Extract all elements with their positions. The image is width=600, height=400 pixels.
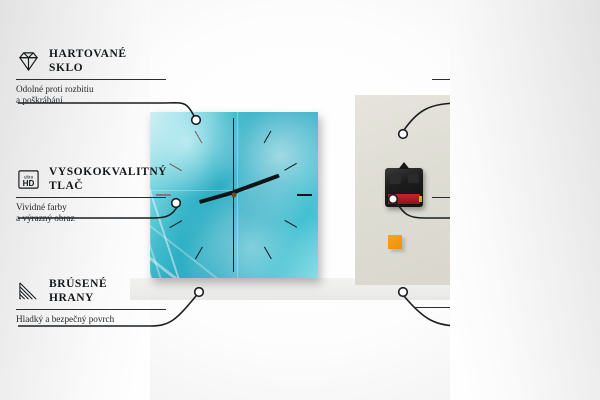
feature-divider [432, 197, 592, 198]
product-photo [130, 90, 470, 300]
ultra-hd-badge-icon: ultra HD [16, 168, 41, 191]
feature-penove-podlozky: PENOVÝ DISTAN- ČNÍ PODLOŽKY Umožňuje vám… [414, 276, 594, 334]
feature-title-line1: TICHÝ [463, 166, 559, 180]
picture-hanger-icon [567, 50, 592, 73]
feature-title-line2: TLAČ [49, 180, 167, 194]
feature-title-line2: SKLO [49, 62, 127, 76]
feature-divider [414, 307, 594, 308]
feature-title-line2: ČNÍ PODLOŽKY [455, 290, 561, 304]
svg-text:HD: HD [23, 179, 35, 188]
feature-sub-line2: v rovnakej vzdialenosti od steny [414, 323, 594, 334]
feature-brusene-hrany: BRÚSENÉ HRANY Hladký a bezpečný povrch [16, 278, 166, 325]
feature-divider [16, 309, 166, 310]
feature-divider [16, 79, 166, 80]
feature-title-line1: PENOVÝ DISTAN- [455, 276, 561, 290]
feature-title-line2: DRŽIAK [505, 62, 559, 76]
feature-title-line1: HARTOVANÉ [49, 48, 127, 62]
feature-sub-line2: a výrazný obraz [16, 213, 166, 224]
mechanism-detail-right [408, 174, 419, 183]
diagonal-hatch-icon [16, 280, 41, 303]
feature-odolny-drziak: ODOLNÝ DRŽIAK Umožňuje snadnou montáž ho… [432, 48, 592, 106]
foam-spacer-pad [388, 235, 402, 249]
feature-sub-line1: Umožňuje snadnou [432, 84, 592, 95]
battery [388, 194, 420, 204]
mechanism-detail-left [389, 174, 401, 184]
feature-tichy-mechanizmus: TICHÝ MECHANIZMUS Hodinové ručičky bez z… [432, 166, 592, 224]
feature-sub-line1: Hodinové ručičky [432, 202, 592, 213]
feature-sub-line1: Hladký a bezpečný povrch [16, 314, 166, 325]
feature-title-line1: VYSOKOKVALITNÝ [49, 166, 167, 180]
feature-title-line1: ODOLNÝ [505, 48, 559, 62]
feature-hartovane-sklo: HARTOVANÉ SKLO Odolné proti rozbitiu a p… [16, 48, 166, 106]
infographic-stage: HARTOVANÉ SKLO Odolné proti rozbitiu a p… [0, 0, 600, 400]
feature-sub-line1: Odolné proti rozbitiu [16, 84, 166, 95]
glass-seam-vertical [237, 112, 238, 278]
down-arrow-pad-icon [569, 278, 594, 301]
feature-divider [432, 79, 592, 80]
clock-center-hub [232, 193, 237, 198]
gear-icon [567, 168, 592, 191]
feature-sub-line1: Umožňuje vám držať hodiny [414, 312, 594, 323]
feature-sub-line2: bez zvuku [432, 213, 592, 224]
feature-divider [16, 197, 166, 198]
diamond-icon [16, 50, 41, 73]
feature-title-line2: MECHANIZMUS [463, 180, 559, 194]
feature-vysokokvalitny-tlac: ultra HD VYSOKOKVALITNÝ TLAČ Vividné far… [16, 166, 166, 224]
feature-sub-line1: Vividné farby [16, 202, 166, 213]
wall-clock-face [150, 112, 318, 278]
feature-title-line1: BRÚSENÉ [49, 278, 107, 292]
clock-mechanism [385, 168, 423, 207]
feature-sub-line2: a poškrábání [16, 95, 166, 106]
feature-title-line2: HRANY [49, 292, 107, 306]
feature-sub-line2: montáž hodin na zeď [432, 95, 592, 106]
